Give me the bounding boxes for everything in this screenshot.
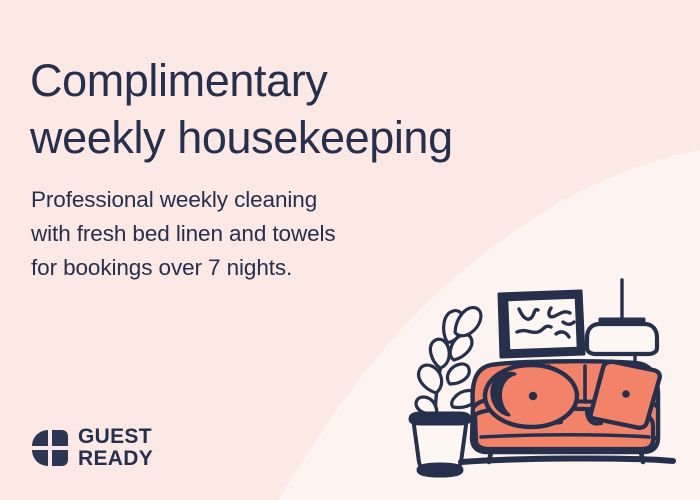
guestready-wordmark: GUEST READY bbox=[78, 426, 153, 469]
pendant-lamp bbox=[587, 280, 657, 372]
guestready-logo: GUEST READY bbox=[31, 426, 153, 469]
promo-banner: Complimentary weekly housekeeping Profes… bbox=[0, 0, 700, 500]
headline: Complimentary weekly housekeeping bbox=[30, 52, 453, 166]
throw-pillow bbox=[591, 362, 660, 428]
round-cushion bbox=[485, 365, 577, 427]
potted-plant bbox=[410, 308, 481, 476]
subheadline: Professional weekly cleaning with fresh … bbox=[31, 183, 336, 286]
guestready-logo-mark bbox=[31, 429, 69, 467]
living-room-illustration bbox=[395, 262, 695, 497]
wordmark-line-1: GUEST bbox=[78, 426, 153, 448]
framed-artwork bbox=[499, 291, 584, 357]
wordmark-line-2: READY bbox=[78, 448, 153, 470]
